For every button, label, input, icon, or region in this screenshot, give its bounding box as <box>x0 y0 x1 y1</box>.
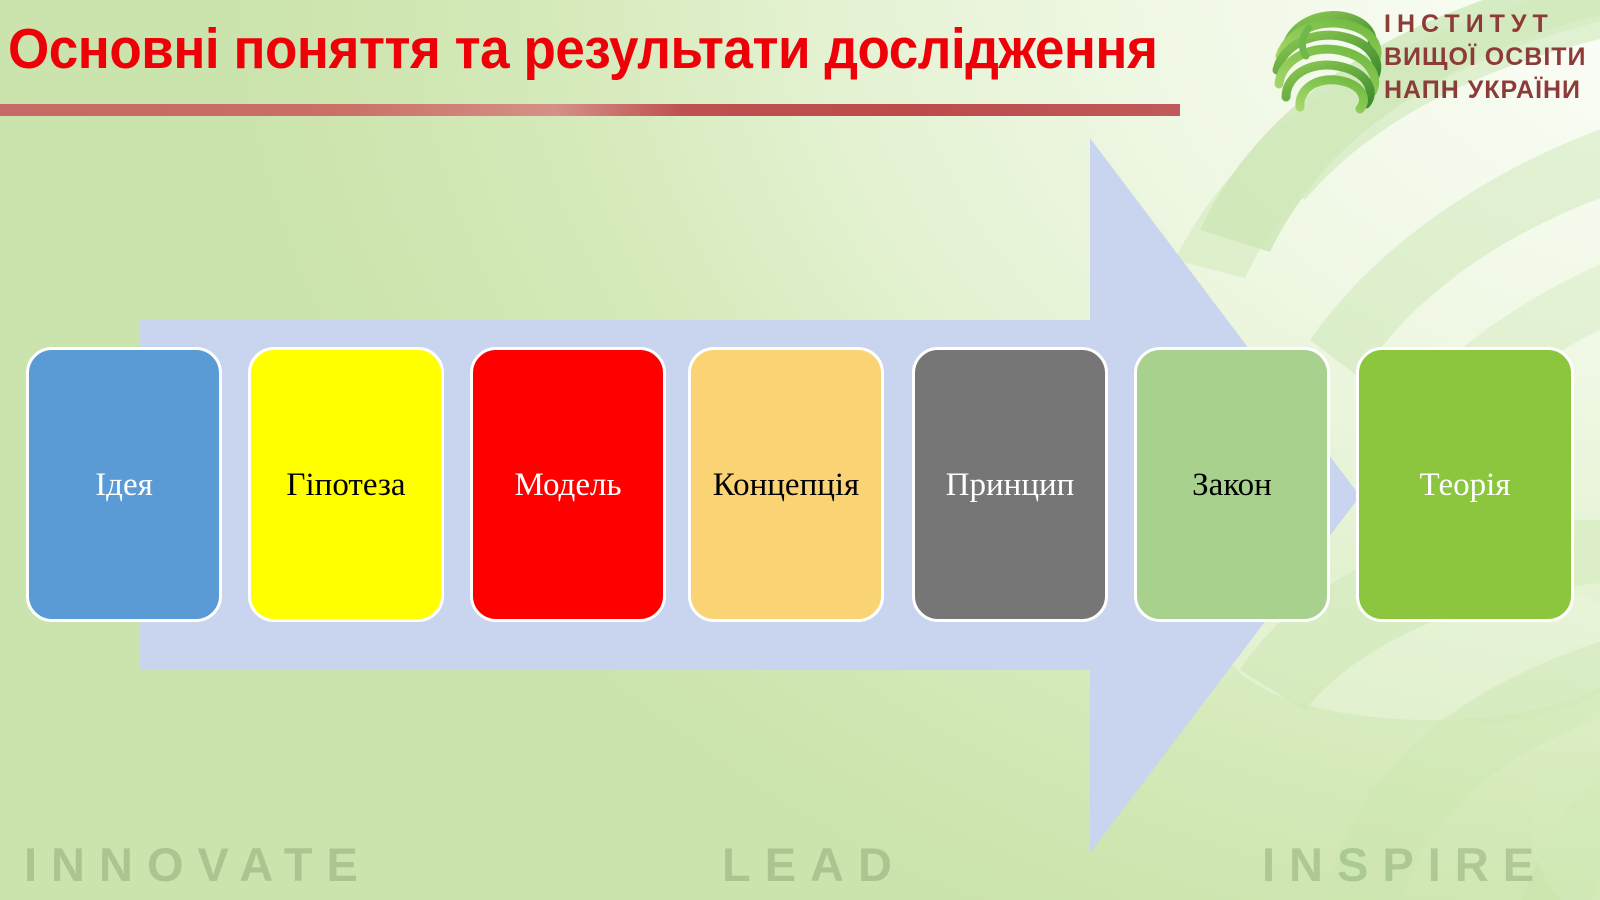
footer-word-innovate: INNOVATE <box>24 837 372 892</box>
concept-label: Теорія <box>1420 467 1511 503</box>
logo-line-napn-ukraine: НАПН УКРАЇНИ <box>1384 74 1587 107</box>
concept-box-kontseptsiya[interactable]: Концепція <box>688 347 884 622</box>
footer-word-inspire: INSPIRE <box>1262 837 1548 892</box>
concept-label: Гіпотеза <box>286 467 405 503</box>
concept-label: Закон <box>1192 467 1272 503</box>
concept-label: Концепція <box>713 467 860 503</box>
concept-box-hipoteza[interactable]: Гіпотеза <box>248 347 444 622</box>
concept-box-printsyp[interactable]: Принцип <box>912 347 1108 622</box>
title-divider-rule <box>0 104 1180 116</box>
footer-word-lead: LEAD <box>722 837 906 892</box>
concept-box-zakon[interactable]: Закон <box>1134 347 1330 622</box>
logo-line-higher-education: ВИЩОЇ ОСВІТИ <box>1384 41 1587 74</box>
concept-box-teoriya[interactable]: Теорія <box>1356 347 1574 622</box>
page-title: Основні поняття та результати дослідженн… <box>8 10 1105 88</box>
concept-label: Ідея <box>95 467 153 503</box>
concept-box-model[interactable]: Модель <box>470 347 666 622</box>
concept-box-row: Ідея Гіпотеза Модель Концепція Принцип З… <box>0 347 1600 622</box>
slide-header: Основні поняття та результати дослідженн… <box>0 0 1600 120</box>
concept-label: Модель <box>514 467 621 503</box>
green-ribbon-globe-icon <box>1262 4 1382 116</box>
institute-logo: ІНСТИТУТ ВИЩОЇ ОСВІТИ НАПН УКРАЇНИ <box>1262 4 1600 116</box>
concept-box-ideya[interactable]: Ідея <box>26 347 222 622</box>
logo-text-block: ІНСТИТУТ ВИЩОЇ ОСВІТИ НАПН УКРАЇНИ <box>1384 8 1587 107</box>
logo-line-institute: ІНСТИТУТ <box>1384 8 1587 41</box>
slide-canvas: Основні поняття та результати дослідженн… <box>0 0 1600 900</box>
concept-label: Принцип <box>946 467 1075 503</box>
